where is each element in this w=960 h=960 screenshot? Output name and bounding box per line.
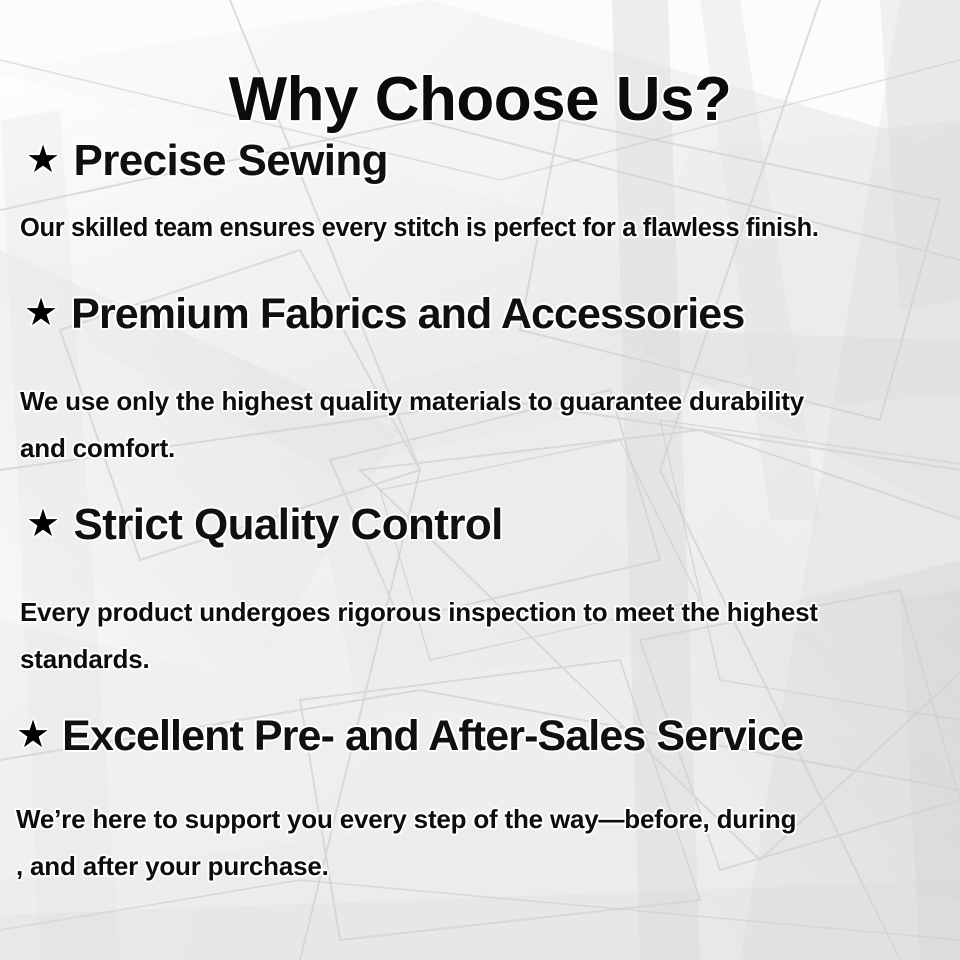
feature-body-2: We use only the highest quality material… xyxy=(0,338,960,472)
poster-content: Why Choose Us? ★Precise Sewing Our skill… xyxy=(0,0,960,960)
feature-heading-4-label: Excellent Pre- and After-Sales Service xyxy=(62,712,803,760)
feature-heading-2: ★Premium Fabrics and Accessories xyxy=(0,292,960,338)
star-icon: ★ xyxy=(26,139,59,181)
feature-item-4: ★Excellent Pre- and After-Sales Service … xyxy=(0,714,960,890)
star-icon: ★ xyxy=(26,503,59,545)
star-icon: ★ xyxy=(16,714,49,756)
feature-heading-1-label: Precise Sewing xyxy=(73,136,387,185)
feature-item-1: ★Precise Sewing Our skilled team ensures… xyxy=(0,138,960,252)
feature-heading-3: ★Strict Quality Control xyxy=(0,502,960,549)
feature-body-1-line-1: Our skilled team ensures every stitch is… xyxy=(20,205,946,252)
feature-body-2-line-1: We use only the highest quality material… xyxy=(20,378,946,425)
feature-body-3-line-1: Every product undergoes rigorous inspect… xyxy=(20,589,946,636)
feature-body-3-line-2: standards. xyxy=(20,636,946,683)
feature-body-2-line-2: and comfort. xyxy=(20,425,946,472)
feature-heading-1: ★Precise Sewing xyxy=(0,138,960,185)
feature-heading-3-label: Strict Quality Control xyxy=(73,500,502,549)
feature-body-1: Our skilled team ensures every stitch is… xyxy=(0,185,960,252)
why-choose-us-poster: Why Choose Us? ★Precise Sewing Our skill… xyxy=(0,0,960,960)
feature-heading-4: ★Excellent Pre- and After-Sales Service xyxy=(0,714,960,760)
feature-body-4-line-1: We’re here to support you every step of … xyxy=(16,796,946,843)
feature-body-4-line-2: , and after your purchase. xyxy=(16,843,946,890)
feature-heading-2-label: Premium Fabrics and Accessories xyxy=(71,290,744,338)
feature-body-3: Every product undergoes rigorous inspect… xyxy=(0,549,960,683)
page-title: Why Choose Us? xyxy=(0,68,960,131)
feature-item-2: ★Premium Fabrics and Accessories We use … xyxy=(0,292,960,472)
star-icon: ★ xyxy=(24,292,57,334)
feature-item-3: ★Strict Quality Control Every product un… xyxy=(0,502,960,683)
feature-body-4: We’re here to support you every step of … xyxy=(0,760,960,890)
